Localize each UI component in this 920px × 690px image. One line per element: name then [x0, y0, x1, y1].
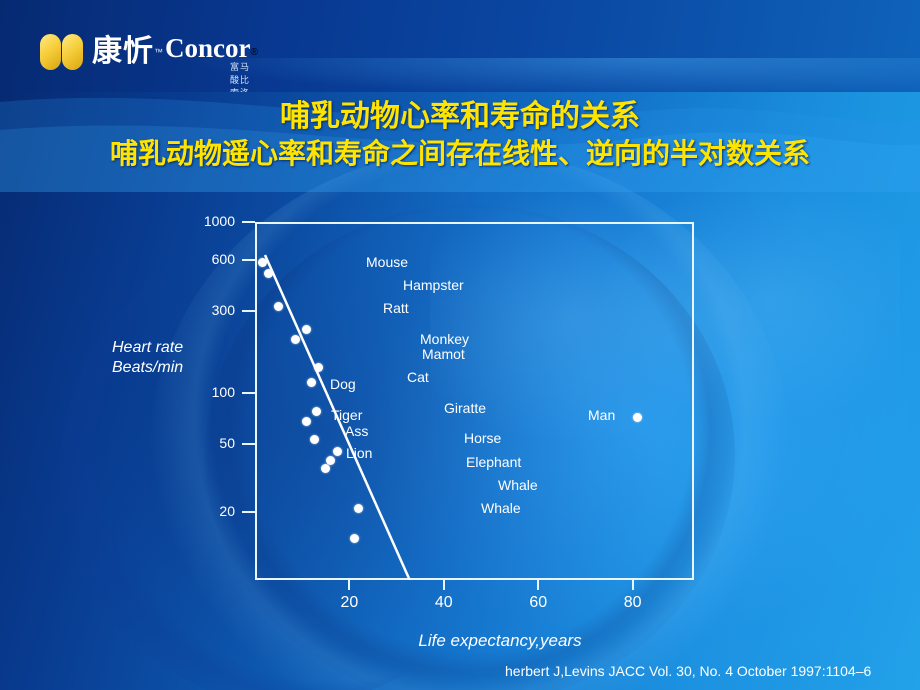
- x-tick-label: 20: [329, 594, 369, 612]
- x-axis-title: Life expectancy,years: [330, 630, 670, 651]
- trend-line: [255, 222, 694, 580]
- y-axis-title-line2: Beats/min: [112, 358, 232, 378]
- y-tick-mark: [242, 392, 255, 394]
- x-tick-label: 80: [613, 594, 653, 612]
- y-axis-title-line1: Heart rate: [112, 338, 232, 358]
- y-tick-label: 20: [183, 503, 235, 519]
- x-tick-label: 40: [424, 594, 464, 612]
- y-axis-title: Heart rate Beats/min: [112, 338, 232, 378]
- scatter-chart: 10006003001005020 20406080 MouseHampster…: [0, 0, 920, 690]
- y-tick-label: 300: [183, 302, 235, 318]
- y-tick-label: 1000: [183, 213, 235, 229]
- y-tick-mark: [242, 259, 255, 261]
- x-tick-mark: [348, 580, 350, 590]
- x-tick-label: 60: [518, 594, 558, 612]
- y-tick-label: 100: [183, 384, 235, 400]
- y-tick-label: 50: [183, 435, 235, 451]
- x-tick-mark: [443, 580, 445, 590]
- y-tick-label: 600: [183, 251, 235, 267]
- y-tick-mark: [242, 511, 255, 513]
- x-tick-mark: [632, 580, 634, 590]
- y-tick-mark: [242, 443, 255, 445]
- y-tick-mark: [242, 310, 255, 312]
- citation-text: herbert J,Levins JACC Vol. 30, No. 4 Oct…: [505, 663, 871, 679]
- x-tick-mark: [537, 580, 539, 590]
- y-tick-mark: [242, 221, 255, 223]
- slide: 康忻 ™ Concor ® 富马酸比索洛尔 哺乳动物心率和寿命的关系 哺乳动物遥…: [0, 0, 920, 690]
